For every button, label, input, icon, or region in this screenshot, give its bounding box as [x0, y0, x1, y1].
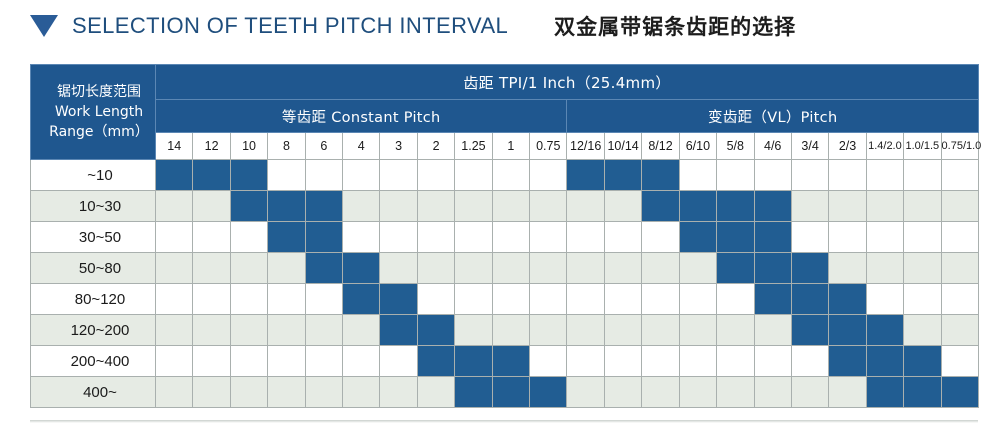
cell-empty [567, 284, 604, 315]
cell-empty [866, 222, 903, 253]
cell-empty [941, 191, 978, 222]
cell-empty [268, 315, 305, 346]
cell-marked [679, 191, 716, 222]
cell-empty [156, 253, 193, 284]
cell-empty [268, 253, 305, 284]
column-header-4: 4 [343, 133, 380, 160]
cell-marked [791, 253, 828, 284]
cell-empty [567, 253, 604, 284]
cell-empty [530, 315, 567, 346]
column-header-3-4: 3/4 [791, 133, 828, 160]
cell-empty [417, 191, 454, 222]
corner-label-en-2: Range（mm） [43, 122, 155, 142]
cell-marked [717, 253, 754, 284]
cell-empty [193, 191, 230, 222]
corner-label-cn: 锯切长度范围 [43, 82, 155, 102]
cell-empty [455, 315, 492, 346]
cell-empty [567, 191, 604, 222]
cell-empty [866, 160, 903, 191]
cell-marked [754, 222, 791, 253]
cell-empty [567, 346, 604, 377]
cell-empty [941, 346, 978, 377]
cell-empty [156, 191, 193, 222]
cell-empty [679, 284, 716, 315]
table-row: 120~200 [31, 315, 979, 346]
cell-empty [717, 284, 754, 315]
cell-empty [343, 191, 380, 222]
cell-marked [380, 284, 417, 315]
cell-empty [380, 222, 417, 253]
cell-empty [642, 284, 679, 315]
cell-marked [754, 191, 791, 222]
column-header-1-0-1-5: 1.0/1.5 [904, 133, 941, 160]
cell-marked [866, 346, 903, 377]
cell-marked [193, 160, 230, 191]
cell-marked [492, 346, 529, 377]
cell-empty [193, 377, 230, 408]
cell-empty [380, 253, 417, 284]
group-header-constant: 等齿距 Constant Pitch [156, 100, 567, 133]
cell-empty [343, 315, 380, 346]
cell-empty [791, 191, 828, 222]
cell-empty [530, 222, 567, 253]
cell-empty [492, 222, 529, 253]
cell-empty [417, 222, 454, 253]
cell-empty [455, 160, 492, 191]
cell-empty [679, 346, 716, 377]
cell-empty [230, 222, 267, 253]
cell-empty [642, 377, 679, 408]
cell-empty [717, 160, 754, 191]
cell-marked [754, 253, 791, 284]
row-label-400-: 400~ [31, 377, 156, 408]
cell-empty [679, 377, 716, 408]
cell-empty [492, 315, 529, 346]
cell-marked [305, 253, 342, 284]
cell-marked [343, 284, 380, 315]
header-row-columns: 141210864321.2510.7512/1610/148/126/105/… [31, 133, 979, 160]
cell-empty [305, 377, 342, 408]
cell-marked [866, 377, 903, 408]
cell-marked [791, 315, 828, 346]
cell-empty [941, 315, 978, 346]
cell-empty [305, 346, 342, 377]
cell-empty [530, 284, 567, 315]
column-header-10-14: 10/14 [604, 133, 641, 160]
cell-empty [268, 160, 305, 191]
cell-marked [417, 315, 454, 346]
column-header-4-6: 4/6 [754, 133, 791, 160]
column-header-12: 12 [193, 133, 230, 160]
cell-empty [455, 284, 492, 315]
cell-empty [343, 160, 380, 191]
cell-empty [904, 284, 941, 315]
corner-header-cell: 锯切长度范围 Work Length Range（mm） [31, 65, 156, 160]
cell-empty [604, 315, 641, 346]
cell-empty [604, 284, 641, 315]
cell-marked [829, 315, 866, 346]
page-title-en: SELECTION OF TEETH PITCH INTERVAL [72, 13, 508, 39]
cell-marked [417, 346, 454, 377]
cell-empty [679, 315, 716, 346]
cell-empty [791, 346, 828, 377]
row-label--10: ~10 [31, 160, 156, 191]
cell-empty [791, 222, 828, 253]
cell-marked [455, 346, 492, 377]
column-header-2-3: 2/3 [829, 133, 866, 160]
column-header-1-25: 1.25 [455, 133, 492, 160]
cell-empty [567, 377, 604, 408]
cell-marked [717, 222, 754, 253]
cell-empty [604, 346, 641, 377]
cell-empty [230, 377, 267, 408]
cell-empty [492, 160, 529, 191]
cell-empty [791, 377, 828, 408]
cell-empty [343, 346, 380, 377]
cell-empty [156, 284, 193, 315]
cell-empty [754, 160, 791, 191]
cell-empty [268, 346, 305, 377]
column-header-6: 6 [305, 133, 342, 160]
cell-marked [866, 315, 903, 346]
cell-marked [530, 377, 567, 408]
table-row: ~10 [31, 160, 979, 191]
cell-empty [268, 377, 305, 408]
cell-empty [492, 191, 529, 222]
teeth-pitch-table: 锯切长度范围 Work Length Range（mm） 齿距 TPI/1 In… [30, 64, 979, 408]
cell-empty [829, 191, 866, 222]
header-row-group-top: 锯切长度范围 Work Length Range（mm） 齿距 TPI/1 In… [31, 65, 979, 100]
column-header-0-75: 0.75 [530, 133, 567, 160]
cell-empty [380, 346, 417, 377]
cell-empty [455, 191, 492, 222]
cell-empty [642, 315, 679, 346]
cell-empty [604, 377, 641, 408]
cell-empty [230, 253, 267, 284]
cell-empty [941, 253, 978, 284]
table-body: ~1010~3030~5050~8080~120120~200200~40040… [31, 160, 979, 408]
column-header-8: 8 [268, 133, 305, 160]
column-header-1: 1 [492, 133, 529, 160]
cell-empty [455, 253, 492, 284]
cell-empty [829, 160, 866, 191]
cell-marked [791, 284, 828, 315]
cell-empty [193, 346, 230, 377]
table-row: 10~30 [31, 191, 979, 222]
cell-empty [941, 160, 978, 191]
cell-empty [866, 284, 903, 315]
cell-marked [230, 160, 267, 191]
cell-empty [530, 346, 567, 377]
cell-empty [904, 253, 941, 284]
cell-empty [904, 191, 941, 222]
cell-empty [642, 346, 679, 377]
cell-empty [417, 160, 454, 191]
cell-empty [156, 377, 193, 408]
cell-marked [829, 346, 866, 377]
page-title-cn: 双金属带锯条齿距的选择 [554, 11, 796, 41]
cell-empty [230, 315, 267, 346]
cell-marked [156, 160, 193, 191]
cell-empty [230, 284, 267, 315]
cell-empty [567, 222, 604, 253]
cell-empty [941, 222, 978, 253]
cell-marked [941, 377, 978, 408]
cell-empty [455, 222, 492, 253]
cell-empty [642, 253, 679, 284]
table-row: 400~ [31, 377, 979, 408]
pitch-table-container: 锯切长度范围 Work Length Range（mm） 齿距 TPI/1 In… [30, 64, 978, 408]
cell-empty [530, 253, 567, 284]
cell-empty [604, 222, 641, 253]
cell-empty [492, 253, 529, 284]
column-header-14: 14 [156, 133, 193, 160]
table-row: 50~80 [31, 253, 979, 284]
cell-marked [230, 191, 267, 222]
cell-empty [156, 222, 193, 253]
cell-empty [193, 315, 230, 346]
cell-empty [754, 346, 791, 377]
cell-empty [305, 315, 342, 346]
top-group-header: 齿距 TPI/1 Inch（25.4mm） [156, 65, 979, 100]
column-header-1-4-2-0: 1.4/2.0 [866, 133, 903, 160]
cell-empty [230, 346, 267, 377]
cell-empty [530, 191, 567, 222]
cell-empty [791, 160, 828, 191]
cell-empty [193, 253, 230, 284]
cell-marked [567, 160, 604, 191]
cell-marked [717, 191, 754, 222]
cell-marked [642, 191, 679, 222]
group-header-vl: 变齿距（VL）Pitch [567, 100, 979, 133]
column-header-2: 2 [417, 133, 454, 160]
cell-marked [305, 222, 342, 253]
cell-empty [305, 160, 342, 191]
cell-marked [904, 346, 941, 377]
cell-empty [530, 160, 567, 191]
cell-empty [866, 253, 903, 284]
cell-empty [754, 315, 791, 346]
table-row: 200~400 [31, 346, 979, 377]
cell-empty [417, 253, 454, 284]
cell-empty [717, 377, 754, 408]
column-header-10: 10 [230, 133, 267, 160]
column-header-8-12: 8/12 [642, 133, 679, 160]
column-header-0-75-1-0: 0.75/1.0 [941, 133, 978, 160]
cell-marked [754, 284, 791, 315]
cell-marked [455, 377, 492, 408]
cell-marked [492, 377, 529, 408]
table-bottom-shadow [30, 420, 978, 423]
cell-marked [343, 253, 380, 284]
table-head: 锯切长度范围 Work Length Range（mm） 齿距 TPI/1 In… [31, 65, 979, 160]
column-header-3: 3 [380, 133, 417, 160]
cell-empty [866, 191, 903, 222]
cell-empty [679, 253, 716, 284]
row-label-80-120: 80~120 [31, 284, 156, 315]
cell-marked [305, 191, 342, 222]
cell-empty [679, 160, 716, 191]
cell-marked [679, 222, 716, 253]
cell-empty [642, 222, 679, 253]
cell-marked [904, 377, 941, 408]
cell-empty [829, 377, 866, 408]
cell-empty [156, 346, 193, 377]
cell-marked [268, 222, 305, 253]
column-header-5-8: 5/8 [717, 133, 754, 160]
cell-empty [717, 315, 754, 346]
cell-empty [941, 284, 978, 315]
row-label-200-400: 200~400 [31, 346, 156, 377]
cell-marked [642, 160, 679, 191]
cell-empty [305, 284, 342, 315]
row-label-30-50: 30~50 [31, 222, 156, 253]
cell-empty [193, 284, 230, 315]
table-row: 80~120 [31, 284, 979, 315]
corner-label-en-1: Work Length [43, 102, 155, 122]
cell-empty [717, 346, 754, 377]
cell-empty [567, 315, 604, 346]
header-row-groups: 等齿距 Constant Pitch变齿距（VL）Pitch [31, 100, 979, 133]
cell-marked [829, 284, 866, 315]
cell-marked [268, 191, 305, 222]
cell-empty [193, 222, 230, 253]
cell-empty [829, 253, 866, 284]
cell-empty [380, 377, 417, 408]
cell-empty [904, 160, 941, 191]
cell-empty [268, 284, 305, 315]
triangle-down-icon [30, 15, 58, 37]
cell-empty [417, 377, 454, 408]
cell-empty [904, 222, 941, 253]
table-row: 30~50 [31, 222, 979, 253]
cell-marked [604, 160, 641, 191]
row-label-50-80: 50~80 [31, 253, 156, 284]
cell-empty [754, 377, 791, 408]
cell-empty [417, 284, 454, 315]
cell-empty [492, 284, 529, 315]
cell-empty [604, 191, 641, 222]
row-label-120-200: 120~200 [31, 315, 156, 346]
row-label-10-30: 10~30 [31, 191, 156, 222]
cell-empty [380, 160, 417, 191]
page-header: SELECTION OF TEETH PITCH INTERVAL 双金属带锯条… [0, 0, 1000, 52]
cell-empty [343, 377, 380, 408]
cell-empty [343, 222, 380, 253]
cell-empty [904, 315, 941, 346]
cell-empty [604, 253, 641, 284]
column-header-12-16: 12/16 [567, 133, 604, 160]
cell-empty [829, 222, 866, 253]
cell-empty [380, 191, 417, 222]
cell-empty [156, 315, 193, 346]
cell-marked [380, 315, 417, 346]
column-header-6-10: 6/10 [679, 133, 716, 160]
